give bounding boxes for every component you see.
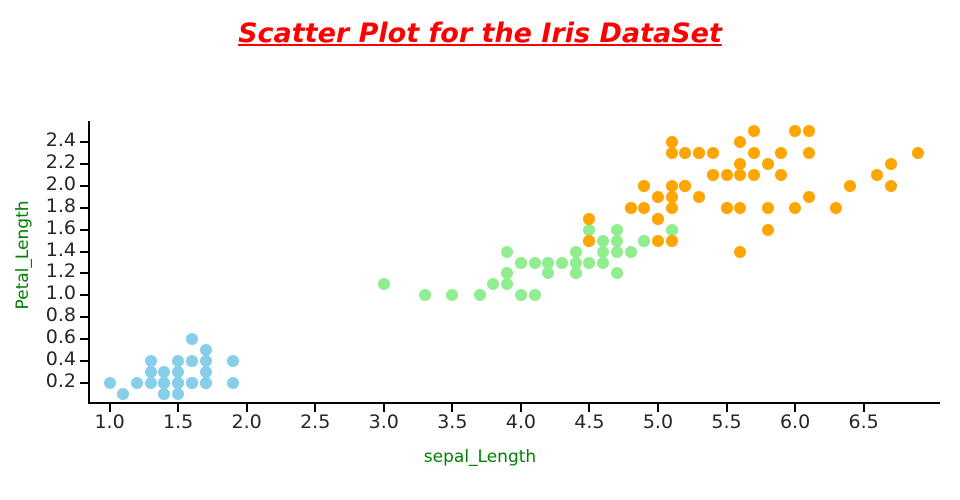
scatter-point (652, 213, 664, 225)
y-tick-label: 1.8 (0, 195, 76, 217)
y-tick-mark (80, 251, 88, 253)
y-tick-label: 1.6 (0, 217, 76, 239)
y-tick-mark (80, 163, 88, 165)
scatter-point (583, 224, 595, 236)
x-tick-label-wrap: 4.0 (486, 411, 556, 433)
scatter-point (200, 344, 212, 356)
scatter-point (803, 147, 815, 159)
scatter-point (172, 377, 184, 389)
scatter-point (378, 278, 390, 290)
x-tick-label: 3.5 (437, 411, 467, 433)
scatter-point (734, 202, 746, 214)
scatter-point (145, 377, 157, 389)
x-tick-label: 3.0 (369, 411, 399, 433)
scatter-point (638, 235, 650, 247)
scatter-point (762, 224, 774, 236)
scatter-point (775, 147, 787, 159)
scatter-point (227, 377, 239, 389)
x-tick-label: 6.0 (780, 411, 810, 433)
scatter-point (912, 147, 924, 159)
scatter-point (158, 377, 170, 389)
scatter-point (583, 235, 595, 247)
scatter-point (885, 180, 897, 192)
scatter-point (446, 289, 458, 301)
x-tick-label-wrap: 5.0 (623, 411, 693, 433)
x-tick-label: 2.0 (232, 411, 262, 433)
scatter-point (789, 202, 801, 214)
y-tick-label: 1.4 (0, 239, 76, 261)
scatter-point (748, 169, 760, 181)
scatter-point (721, 202, 733, 214)
scatter-point (803, 191, 815, 203)
scatter-point (652, 235, 664, 247)
scatter-point (583, 257, 595, 269)
scatter-point (501, 278, 513, 290)
scatter-point (666, 202, 678, 214)
y-tick-mark (80, 382, 88, 384)
x-tick-label: 6.5 (848, 411, 878, 433)
scatter-point (131, 377, 143, 389)
x-tick-label-wrap: 4.5 (554, 411, 624, 433)
scatter-point (542, 257, 554, 269)
y-axis-label-holder: Petal_Length (13, 180, 33, 330)
scatter-point (529, 289, 541, 301)
x-tick-label: 1.0 (94, 411, 124, 433)
y-tick-mark (80, 207, 88, 209)
x-tick-label-wrap: 1.0 (75, 411, 145, 433)
y-tick-mark (80, 229, 88, 231)
scatter-point (830, 202, 842, 214)
scatter-point (556, 257, 568, 269)
y-tick-mark (80, 360, 88, 362)
scatter-point (666, 224, 678, 236)
scatter-point (734, 136, 746, 148)
y-axis-label: Petal_Length (13, 200, 33, 309)
x-tick-label: 5.5 (711, 411, 741, 433)
x-tick-label-wrap: 3.5 (417, 411, 487, 433)
scatter-point (734, 169, 746, 181)
scatter-point (652, 191, 664, 203)
x-tick-label: 1.5 (163, 411, 193, 433)
y-tick-mark (80, 316, 88, 318)
scatter-point (666, 235, 678, 247)
scatter-point (666, 147, 678, 159)
scatter-point (707, 169, 719, 181)
scatter-point (693, 147, 705, 159)
y-tick-label: 0.2 (0, 370, 76, 392)
x-tick-label-wrap: 2.0 (212, 411, 282, 433)
scatter-point (666, 180, 678, 192)
scatter-point (638, 180, 650, 192)
scatter-point (789, 125, 801, 137)
scatter-point (227, 355, 239, 367)
scatter-point (762, 158, 774, 170)
scatter-point (734, 246, 746, 258)
scatter-point (145, 355, 157, 367)
y-tick-label: 0.8 (0, 304, 76, 326)
plot-area (89, 122, 939, 403)
scatter-point (570, 267, 582, 279)
scatter-point (487, 278, 499, 290)
scatter-point (200, 377, 212, 389)
scatter-point (693, 191, 705, 203)
scatter-point (707, 147, 719, 159)
y-tick-label: 2.0 (0, 173, 76, 195)
scatter-point (666, 191, 678, 203)
scatter-point (597, 257, 609, 269)
scatter-point (172, 355, 184, 367)
scatter-point (638, 202, 650, 214)
y-tick-mark (80, 141, 88, 143)
scatter-point (104, 377, 116, 389)
scatter-point (625, 246, 637, 258)
scatter-plot-figure: Scatter Plot for the Iris DataSet 0.20.4… (0, 0, 960, 500)
scatter-point (597, 246, 609, 258)
x-tick-label-wrap: 6.0 (760, 411, 830, 433)
x-tick-label: 4.5 (574, 411, 604, 433)
y-tick-mark (80, 185, 88, 187)
scatter-point (721, 169, 733, 181)
scatter-point (186, 355, 198, 367)
x-tick-label-wrap: 3.0 (349, 411, 419, 433)
y-tick-label: 0.4 (0, 348, 76, 370)
scatter-point (474, 289, 486, 301)
scatter-point (666, 136, 678, 148)
scatter-point (200, 355, 212, 367)
scatter-point (145, 366, 157, 378)
y-tick-label: 1.0 (0, 282, 76, 304)
scatter-point (570, 246, 582, 258)
scatter-point (775, 169, 787, 181)
scatter-point (734, 158, 746, 170)
y-tick-label: 2.2 (0, 151, 76, 173)
scatter-point (679, 147, 691, 159)
scatter-point (611, 235, 623, 247)
x-tick-label: 2.5 (300, 411, 330, 433)
x-axis-label: sepal_Length (0, 447, 960, 467)
y-tick-label: 1.2 (0, 260, 76, 282)
x-tick-label-wrap: 6.5 (829, 411, 899, 433)
scatter-point (748, 125, 760, 137)
scatter-point (542, 267, 554, 279)
scatter-point (501, 246, 513, 258)
scatter-point (529, 257, 541, 269)
scatter-point (583, 213, 595, 225)
scatter-point (625, 202, 637, 214)
scatter-point (871, 169, 883, 181)
x-tick-label-wrap: 5.5 (692, 411, 762, 433)
scatter-point (186, 377, 198, 389)
x-tick-label-wrap: 1.5 (143, 411, 213, 433)
scatter-point (570, 257, 582, 269)
y-tick-mark (80, 294, 88, 296)
y-tick-label: 0.6 (0, 326, 76, 348)
scatter-point (611, 224, 623, 236)
scatter-point (515, 257, 527, 269)
scatter-point (515, 289, 527, 301)
scatter-point (117, 388, 129, 400)
y-tick-mark (80, 272, 88, 274)
y-tick-mark (80, 338, 88, 340)
scatter-point (762, 202, 774, 214)
scatter-point (611, 267, 623, 279)
x-tick-label: 4.0 (506, 411, 536, 433)
scatter-point (748, 147, 760, 159)
scatter-point (885, 158, 897, 170)
scatter-point (844, 180, 856, 192)
scatter-point (186, 333, 198, 345)
scatter-point (611, 246, 623, 258)
scatter-point (419, 289, 431, 301)
scatter-point (172, 388, 184, 400)
scatter-point (158, 388, 170, 400)
y-tick-label: 2.4 (0, 129, 76, 151)
scatter-point (803, 125, 815, 137)
x-tick-label: 5.0 (643, 411, 673, 433)
chart-title: Scatter Plot for the Iris DataSet (0, 18, 960, 49)
x-tick-label-wrap: 2.5 (280, 411, 350, 433)
scatter-point (679, 180, 691, 192)
scatter-point (597, 235, 609, 247)
